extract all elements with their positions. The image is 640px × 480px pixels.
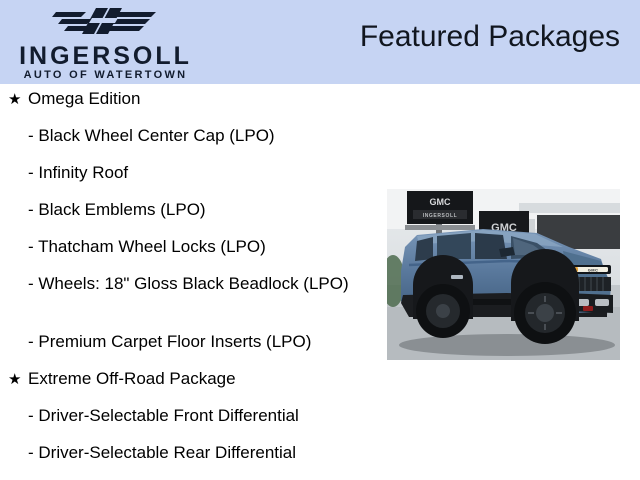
option-text: - Wheels: 18" Gloss Black Beadlock (LPO) — [28, 273, 358, 294]
package-heading-omega-edition: ★ Omega Edition — [0, 88, 380, 125]
list-item: - Wheels: 18" Gloss Black Beadlock (LPO) — [0, 273, 380, 331]
brand-wordmark: INGERSOLL — [8, 44, 203, 69]
star-bullet-icon: ★ — [8, 370, 21, 390]
page-header: INGERSOLL AUTO OF WATERTOWN Featured Pac… — [0, 0, 640, 84]
star-bullet-icon: ★ — [8, 90, 21, 110]
svg-text:GMC: GMC — [588, 268, 599, 273]
option-text: - Infinity Roof — [28, 162, 358, 183]
list-item: - Infinity Roof — [0, 162, 380, 199]
list-item: - Black Emblems (LPO) — [0, 199, 380, 236]
package-name: Omega Edition — [28, 88, 140, 109]
option-text: - Driver-Selectable Front Differential — [28, 405, 358, 426]
featured-packages-list: ★ Omega Edition - Black Wheel Center Cap… — [0, 88, 380, 479]
list-item: - Premium Carpet Floor Inserts (LPO) — [0, 331, 380, 368]
package-name: Extreme Off-Road Package — [28, 368, 236, 389]
svg-text:INGERSOLL: INGERSOLL — [423, 213, 458, 219]
brand-lockup: INGERSOLL AUTO OF WATERTOWN — [0, 0, 210, 84]
option-text: - Black Wheel Center Cap (LPO) — [28, 125, 358, 146]
option-text: - Black Emblems (LPO) — [28, 199, 358, 220]
brand-tagline: AUTO OF WATERTOWN — [8, 70, 203, 81]
option-text: - Driver-Selectable Rear Differential — [28, 442, 358, 463]
ingersoll-winged-emblem-icon — [52, 3, 160, 39]
package-heading-extreme-off-road-package: ★ Extreme Off-Road Package — [0, 368, 380, 405]
option-text: - Premium Carpet Floor Inserts (LPO) — [28, 331, 358, 352]
list-item: - Driver-Selectable Rear Differential — [0, 442, 380, 479]
vehicle-photo: GMC INGERSOLL GMC — [387, 189, 620, 360]
page-title: Featured Packages — [360, 20, 620, 54]
svg-text:GMC: GMC — [430, 197, 451, 207]
list-item: - Driver-Selectable Front Differential — [0, 405, 380, 442]
list-item: - Thatcham Wheel Locks (LPO) — [0, 236, 380, 273]
list-item: - Black Wheel Center Cap (LPO) — [0, 125, 380, 162]
option-text: - Thatcham Wheel Locks (LPO) — [28, 236, 358, 257]
